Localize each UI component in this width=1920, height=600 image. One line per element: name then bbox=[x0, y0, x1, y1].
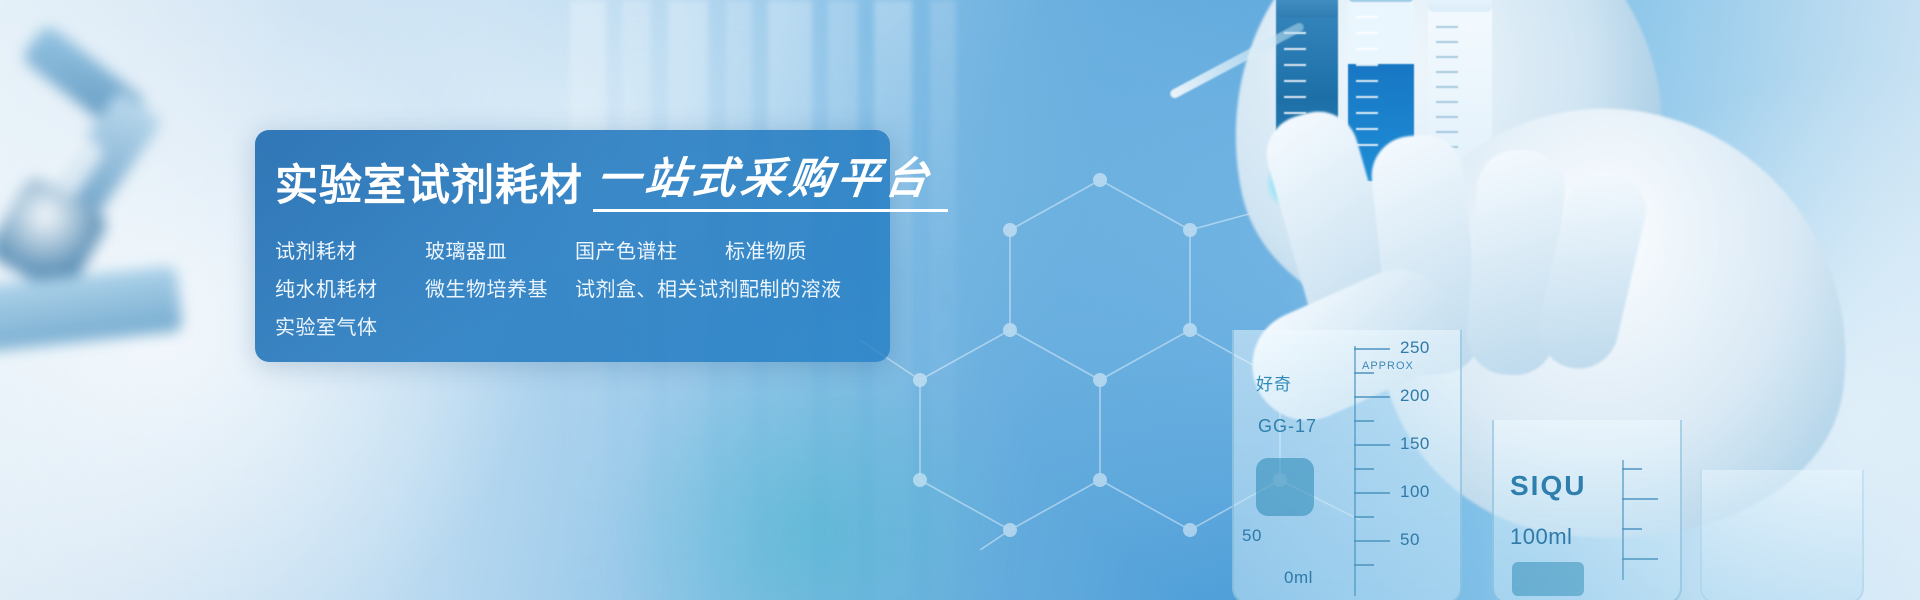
beaker-scale-250: 250 bbox=[1400, 338, 1430, 358]
category-list: 试剂耗材 玻璃器皿 国产色谱柱 标准物质 纯水机耗材 微生物培养基 试剂盒、相关… bbox=[275, 230, 875, 344]
info-panel: 实验室试剂耗材 一站式采购平台 试剂耗材 玻璃器皿 国产色谱柱 标准物质 纯水机… bbox=[255, 130, 890, 362]
beaker-main: 好奇 GG-17 250 APPROX 200 150 100 50 50 0m… bbox=[1232, 330, 1462, 600]
category-item[interactable]: 标准物质 bbox=[725, 235, 807, 264]
category-item[interactable]: 微生物培养基 bbox=[425, 273, 575, 302]
title-sub-text: 一站式采购平台 bbox=[594, 158, 935, 201]
beaker-scale-200: 200 bbox=[1400, 386, 1430, 406]
category-item[interactable]: 试剂盒、相关试剂配制的溶液 bbox=[575, 273, 842, 302]
beaker-right: SIQU 100ml bbox=[1492, 420, 1682, 600]
title-sub-wrap: 一站式采购平台 bbox=[597, 158, 933, 208]
category-row: 纯水机耗材 微生物培养基 试剂盒、相关试剂配制的溶液 bbox=[275, 268, 875, 306]
category-item[interactable]: 实验室气体 bbox=[275, 311, 425, 340]
beaker-approx-label: APPROX bbox=[1362, 360, 1414, 372]
beaker-scale-100: 100 bbox=[1400, 482, 1430, 502]
category-item[interactable]: 试剂耗材 bbox=[275, 235, 425, 264]
beaker-brand-label: 好奇 bbox=[1256, 370, 1292, 395]
banner-title: 实验室试剂耗材 一站式采购平台 bbox=[275, 158, 933, 208]
title-underline bbox=[593, 209, 948, 212]
category-item[interactable]: 国产色谱柱 bbox=[575, 235, 725, 264]
category-item[interactable]: 纯水机耗材 bbox=[275, 273, 425, 302]
beaker-volume-label: 0ml bbox=[1284, 568, 1313, 588]
beaker-right-volume: 100ml bbox=[1510, 524, 1572, 550]
title-main-text: 实验室试剂耗材 bbox=[275, 165, 583, 208]
beaker-scale-50: 50 bbox=[1400, 530, 1420, 550]
beaker-right-brand: SIQU bbox=[1510, 470, 1586, 502]
banner-root: 好奇 GG-17 250 APPROX 200 150 100 50 50 0m… bbox=[0, 0, 1920, 600]
beaker-far bbox=[1700, 470, 1864, 600]
beaker-model-label: GG-17 bbox=[1258, 416, 1317, 437]
category-item[interactable]: 玻璃器皿 bbox=[425, 235, 575, 264]
category-row: 试剂耗材 玻璃器皿 国产色谱柱 标准物质 bbox=[275, 230, 875, 268]
beaker-scale-50-left: 50 bbox=[1242, 526, 1262, 546]
beaker-scale-150: 150 bbox=[1400, 434, 1430, 454]
category-row: 实验室气体 bbox=[275, 306, 875, 344]
microscope-image bbox=[0, 40, 290, 370]
